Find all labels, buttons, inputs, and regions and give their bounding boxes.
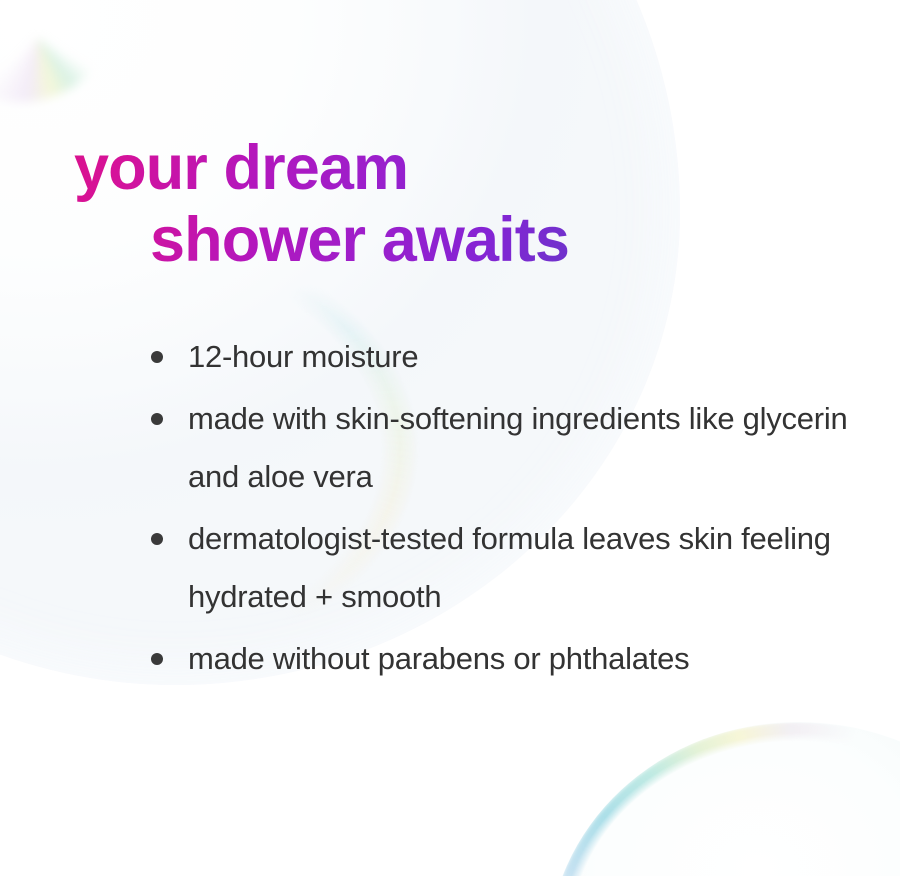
bullet-dot-icon xyxy=(151,533,163,545)
list-item: made without parabens or phthalates xyxy=(150,630,890,688)
benefits-list: 12-hour moisture made with skin-softenin… xyxy=(150,328,890,692)
list-item-label: 12-hour moisture xyxy=(188,328,890,386)
list-item-label: made with skin-softening ingredients lik… xyxy=(188,390,890,506)
headline-line-2: shower awaits xyxy=(0,204,900,276)
bullet-dot-icon xyxy=(151,413,163,425)
bullet-dot-icon xyxy=(151,653,163,665)
list-item: made with skin-softening ingredients lik… xyxy=(150,390,890,506)
list-item-label: dermatologist-tested formula leaves skin… xyxy=(188,510,890,626)
list-item: dermatologist-tested formula leaves skin… xyxy=(150,510,890,626)
headline-line-1: your dream xyxy=(0,132,900,204)
bullet-dot-icon xyxy=(151,351,163,363)
page-title: your dream shower awaits xyxy=(0,132,900,276)
list-item: 12-hour moisture xyxy=(150,328,890,386)
poster-content: your dream shower awaits 12-hour moistur… xyxy=(0,0,900,876)
list-item-label: made without parabens or phthalates xyxy=(188,630,890,688)
poster-canvas: your dream shower awaits 12-hour moistur… xyxy=(0,0,900,876)
